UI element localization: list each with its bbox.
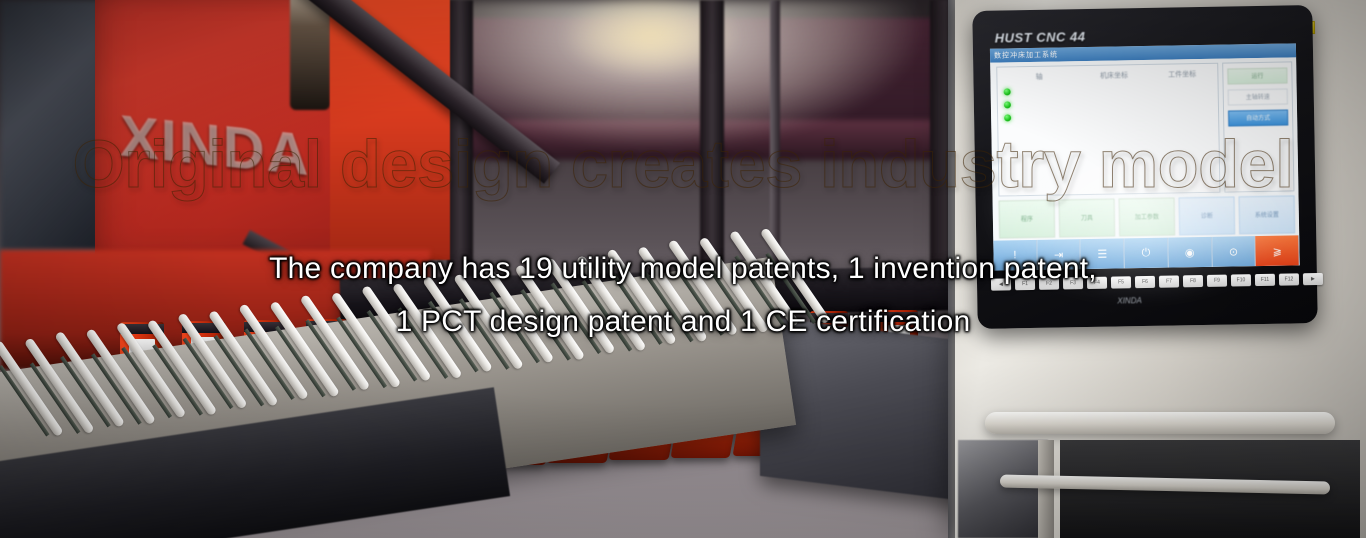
banner-headline: Original design creates industry model bbox=[0, 126, 1366, 203]
banner-subtitle-line1: The company has 19 utility model patents… bbox=[0, 252, 1366, 286]
text-overlay: Original design creates industry model T… bbox=[0, 0, 1366, 538]
promo-banner: XINDA 警告 注意安全操作 禁止靠近 HUST CNC 44 数控冲床加工系… bbox=[0, 0, 1366, 538]
banner-subtitle-line2: 1 PCT design patent and 1 CE certificati… bbox=[0, 305, 1366, 339]
